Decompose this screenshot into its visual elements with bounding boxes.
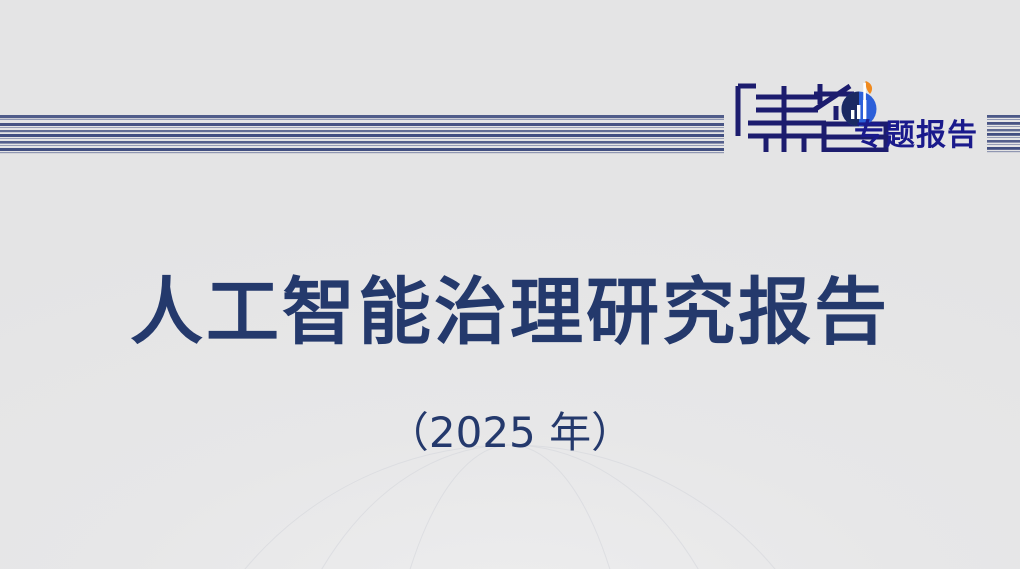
- page-title: 人工智能治理研究报告: [0, 276, 1020, 349]
- header-stripes-right: [987, 113, 1020, 157]
- logo-subtitle: 专题报告: [854, 110, 978, 154]
- header-stripes-left: [0, 113, 724, 157]
- report-cover-page: 专题报告 人工智能治理研究报告 （2025 年）: [0, 0, 1020, 569]
- page-subtitle-year: （2025 年）: [0, 412, 1020, 454]
- brand-logo: 专题报告: [726, 78, 988, 154]
